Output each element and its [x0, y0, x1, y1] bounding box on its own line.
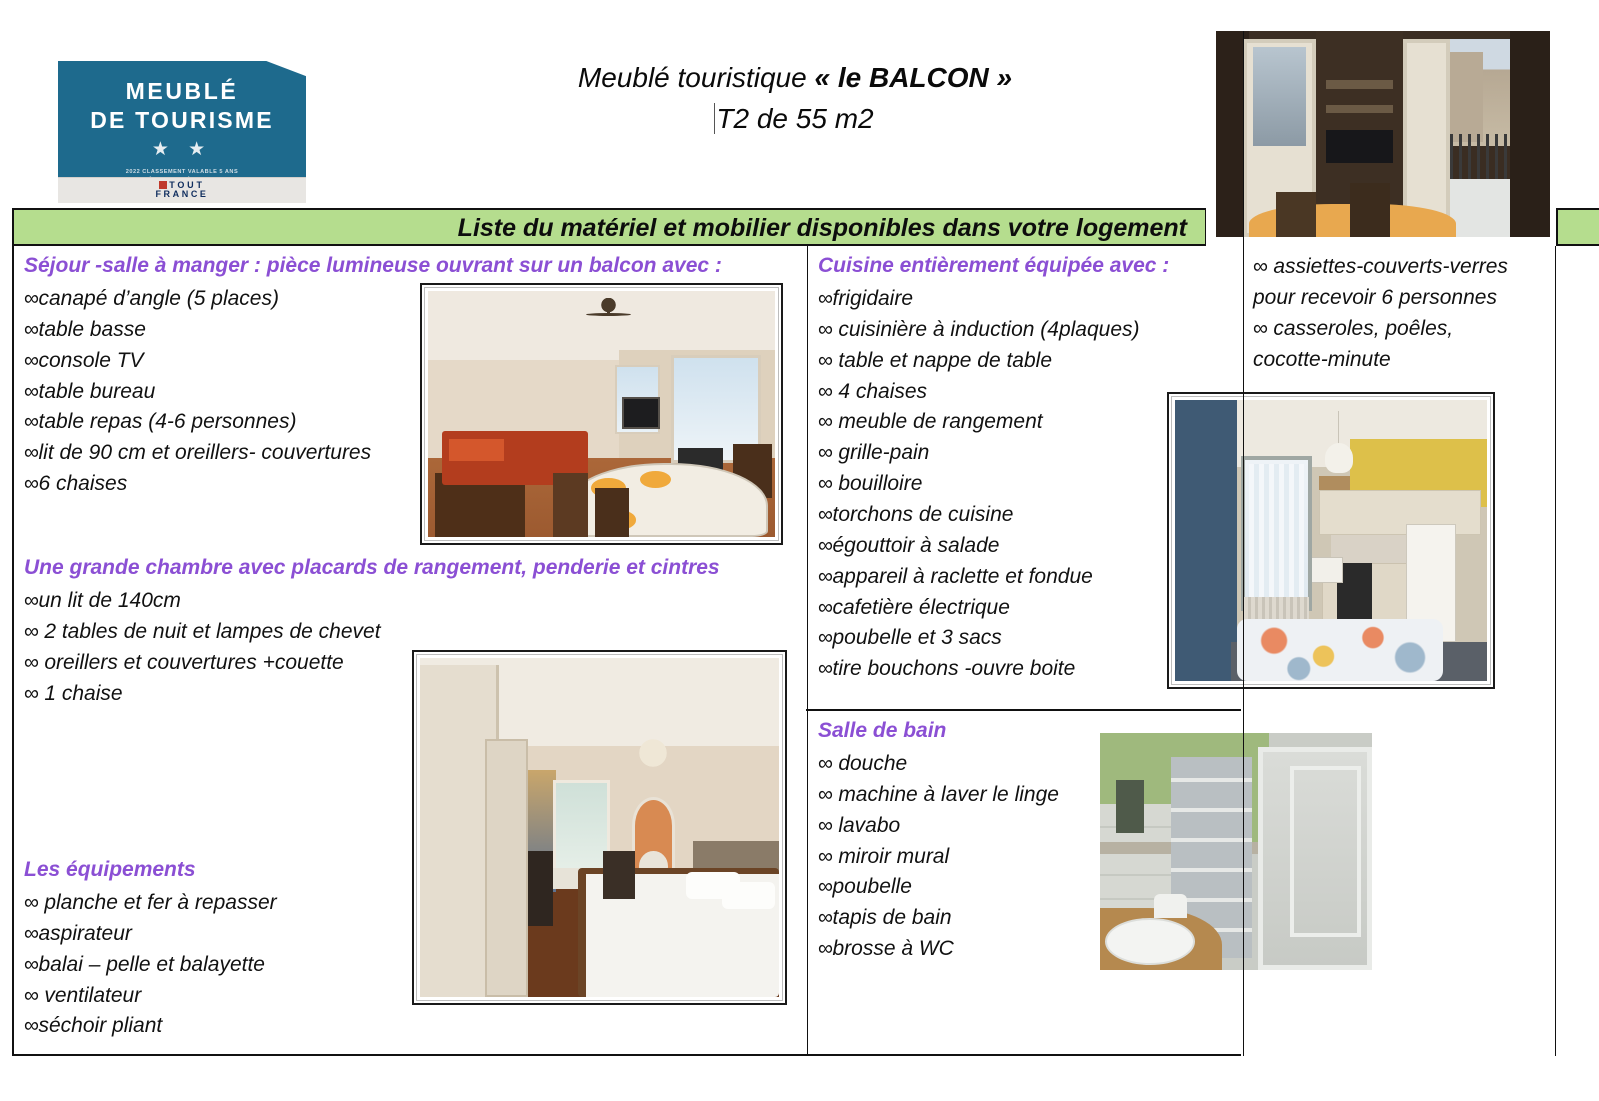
list-item: ∞cafetière électrique: [818, 593, 1169, 624]
banner-title-row: Liste du matériel et mobilier disponible…: [12, 208, 1206, 246]
infinity-bullet-icon: ∞: [24, 349, 38, 372]
infinity-bullet-icon: ∞: [818, 657, 832, 680]
infinity-bullet-icon: ∞: [818, 503, 832, 526]
list-item: ∞frigidaire: [818, 284, 1169, 315]
infinity-bullet-icon: ∞: [24, 472, 38, 495]
list-item: ∞tapis de bain: [818, 903, 1059, 934]
title-line-1: Meublé touristique « le BALCON »: [430, 58, 1160, 99]
list-item: ∞balai – pelle et balayette: [24, 950, 277, 981]
infinity-bullet-icon: ∞: [24, 1014, 38, 1037]
atout-france-strip: TOUT FRANCE: [58, 177, 306, 203]
infinity-bullet-icon: ∞: [818, 626, 832, 649]
document-page: MEUBLÉ DE TOURISME ★ ★ 2022 CLASSEMENT V…: [0, 0, 1599, 1101]
cuisine-heading: Cuisine entièrement équipée avec :: [818, 254, 1169, 278]
balcony-photo: [1216, 31, 1550, 237]
list-item: ∞ 4 chaises: [818, 377, 1169, 408]
infinity-bullet-icon: ∞: [24, 441, 38, 464]
list-item: ∞poubelle et 3 sacs: [818, 623, 1169, 654]
list-item: ∞ lavabo: [818, 811, 1059, 842]
list-item: ∞torchons de cuisine: [818, 500, 1169, 531]
infinity-bullet-icon: ∞: [818, 783, 832, 806]
infinity-bullet-icon: ∞: [24, 651, 38, 674]
infinity-bullet-icon: ∞: [818, 410, 832, 433]
vaisselle-section: ∞ assiettes-couverts-verres pour recevoi…: [1253, 252, 1508, 375]
equipements-heading: Les équipements: [24, 858, 277, 882]
list-item: ∞appareil à raclette et fondue: [818, 562, 1169, 593]
infinity-bullet-icon: ∞: [818, 472, 832, 495]
list-item-continuation: pour recevoir 6 personnes: [1253, 283, 1508, 314]
logo-fine-line-1: 2022 CLASSEMENT VALABLE 5 ANS: [58, 168, 306, 176]
infinity-bullet-icon: ∞: [818, 441, 832, 464]
kitchen-photo: [1167, 392, 1495, 689]
infinity-bullet-icon: ∞: [24, 287, 38, 310]
vaisselle-list: ∞ assiettes-couverts-verres pour recevoi…: [1253, 252, 1508, 375]
infinity-bullet-icon: ∞: [24, 410, 38, 433]
infinity-bullet-icon: ∞: [24, 922, 38, 945]
list-item: ∞égouttoir à salade: [818, 531, 1169, 562]
banner-right-stub: [1556, 208, 1599, 246]
list-item: ∞ planche et fer à repasser: [24, 888, 277, 919]
salle-de-bain-section: Salle de bain ∞ douche ∞ machine à laver…: [818, 719, 1059, 965]
infinity-bullet-icon: ∞: [818, 937, 832, 960]
list-item: ∞aspirateur: [24, 919, 277, 950]
infinity-bullet-icon: ∞: [24, 891, 38, 914]
equipements-section: Les équipements ∞ planche et fer à repas…: [24, 858, 277, 1042]
list-item: ∞ grille-pain: [818, 438, 1169, 469]
list-item: ∞ machine à laver le linge: [818, 780, 1059, 811]
equipements-list: ∞ planche et fer à repasser ∞aspirateur …: [24, 888, 277, 1042]
list-item: ∞tire bouchons -ouvre boite: [818, 654, 1169, 685]
cuisine-section: Cuisine entièrement équipée avec : ∞frig…: [818, 254, 1169, 685]
infinity-bullet-icon: ∞: [24, 620, 38, 643]
list-item: ∞ casseroles, poêles,: [1253, 314, 1508, 345]
cuisine-list: ∞frigidaire ∞ cuisinière à induction (4p…: [818, 284, 1169, 685]
star-rating-icon: ★ ★: [58, 138, 306, 161]
meuble-de-tourisme-logo: MEUBLÉ DE TOURISME ★ ★ 2022 CLASSEMENT V…: [58, 61, 306, 203]
logo-line-1: MEUBLÉ: [58, 78, 306, 105]
infinity-bullet-icon: ∞: [24, 318, 38, 341]
france-label: FRANCE: [155, 190, 208, 199]
infinity-bullet-icon: ∞: [818, 845, 832, 868]
atout-france-square-icon: [159, 181, 167, 189]
infinity-bullet-icon: ∞: [818, 534, 832, 557]
list-item: ∞ miroir mural: [818, 842, 1059, 873]
infinity-bullet-icon: ∞: [818, 875, 832, 898]
chambre-heading: Une grande chambre avec placards de rang…: [24, 556, 720, 580]
list-item: ∞séchoir pliant: [24, 1011, 277, 1042]
sejour-heading: Séjour -salle à manger : pièce lumineuse…: [24, 254, 722, 278]
list-item: ∞un lit de 140cm: [24, 586, 720, 617]
infinity-bullet-icon: ∞: [818, 287, 832, 310]
list-item: ∞ douche: [818, 749, 1059, 780]
infinity-bullet-icon: ∞: [818, 318, 832, 341]
title-prefix: Meublé touristique: [578, 62, 815, 93]
list-item: ∞ ventilateur: [24, 981, 277, 1012]
infinity-bullet-icon: ∞: [24, 953, 38, 976]
infinity-bullet-icon: ∞: [818, 596, 832, 619]
column-divider-right: [1243, 246, 1244, 1056]
list-item: ∞ assiettes-couverts-verres: [1253, 252, 1508, 283]
logo-plaque: MEUBLÉ DE TOURISME ★ ★ 2022 CLASSEMENT V…: [58, 61, 306, 177]
infinity-bullet-icon: ∞: [818, 814, 832, 837]
column-divider-middle: [807, 246, 808, 1056]
list-item: ∞ bouilloire: [818, 469, 1169, 500]
list-item: ∞ meuble de rangement: [818, 407, 1169, 438]
infinity-bullet-icon: ∞: [818, 565, 832, 588]
infinity-bullet-icon: ∞: [1253, 317, 1267, 340]
salle-de-bain-list: ∞ douche ∞ machine à laver le linge ∞ la…: [818, 749, 1059, 965]
column-divider-top: [1243, 31, 1244, 246]
list-item: ∞ 2 tables de nuit et lampes de chevet: [24, 617, 720, 648]
page-title: Meublé touristique « le BALCON » T2 de 5…: [430, 58, 1160, 139]
infinity-bullet-icon: ∞: [24, 589, 38, 612]
title-line-2: T2 de 55 m2: [430, 99, 1160, 140]
list-item-continuation: cocotte-minute: [1253, 345, 1508, 376]
infinity-bullet-icon: ∞: [818, 752, 832, 775]
list-item: ∞ cuisinière à induction (4plaques): [818, 315, 1169, 346]
bedroom-photo: [412, 650, 787, 1005]
infinity-bullet-icon: ∞: [818, 349, 832, 372]
infinity-bullet-icon: ∞: [818, 906, 832, 929]
infinity-bullet-icon: ∞: [24, 682, 38, 705]
logo-line-2: DE TOURISME: [58, 107, 306, 134]
infinity-bullet-icon: ∞: [24, 380, 38, 403]
infinity-bullet-icon: ∞: [24, 984, 38, 1007]
living-room-photo: [420, 283, 783, 545]
bathroom-photo: [1100, 733, 1372, 970]
title-property-name: « le BALCON »: [814, 62, 1012, 93]
atout-france-wordmark: TOUT FRANCE: [155, 181, 208, 200]
list-item: ∞ table et nappe de table: [818, 346, 1169, 377]
banner-title: Liste du matériel et mobilier disponible…: [458, 214, 1187, 243]
list-item: ∞brosse à WC: [818, 934, 1059, 965]
salle-de-bain-heading: Salle de bain: [818, 719, 1059, 743]
list-item: ∞poubelle: [818, 872, 1059, 903]
title-line-2-text: T2 de 55 m2: [714, 103, 873, 134]
infinity-bullet-icon: ∞: [818, 380, 832, 403]
infinity-bullet-icon: ∞: [1253, 255, 1267, 278]
